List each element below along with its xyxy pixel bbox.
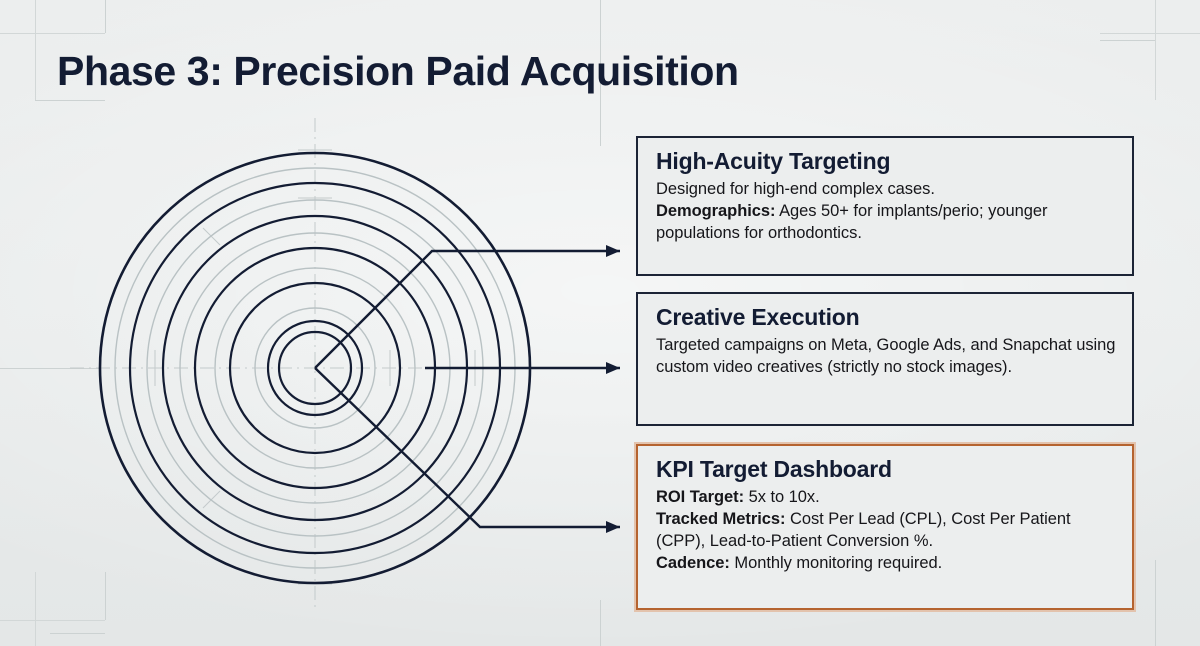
card-line-label: Tracked Metrics: <box>656 510 785 528</box>
crop-bracket-top-left-horizontal <box>35 100 105 101</box>
crop-mark-top-right-horizontal <box>1100 33 1200 34</box>
crop-mark-top-left-vertical <box>35 0 36 100</box>
arrowhead-card-3 <box>606 521 620 533</box>
crop-mark-bottom-left-vertical <box>35 572 36 646</box>
card-title: High-Acuity Targeting <box>656 149 1116 175</box>
card-line-text: Monthly monitoring required. <box>730 554 942 572</box>
slide-canvas: Phase 3: Precision Paid Acquisition <box>0 0 1200 646</box>
arrowhead-card-2 <box>606 362 620 374</box>
card-title: KPI Target Dashboard <box>656 457 1116 483</box>
card-line-label: ROI Target: <box>656 488 744 506</box>
arrowhead-card-1 <box>606 245 620 257</box>
card-body: ROI Target: 5x to 10x. Tracked Metrics: … <box>656 487 1116 575</box>
card-body: Designed for high-end complex cases. Dem… <box>656 179 1116 245</box>
card-line: Designed for high-end complex cases. <box>656 179 1116 201</box>
card-high-acuity-targeting[interactable]: High-Acuity Targeting Designed for high-… <box>636 136 1134 276</box>
card-line-text: Designed for high-end complex cases. <box>656 180 935 198</box>
page-title: Phase 3: Precision Paid Acquisition <box>57 48 739 95</box>
crop-mark-top-right-vertical <box>1155 0 1156 100</box>
leader-line-to-card-1 <box>315 251 620 368</box>
card-title: Creative Execution <box>656 305 1116 331</box>
crop-bracket-top-left-vertical <box>105 0 106 33</box>
crop-bracket-top-right-horizontal <box>1100 40 1155 41</box>
card-body: Targeted campaigns on Meta, Google Ads, … <box>656 335 1116 379</box>
construction-guides <box>70 118 620 610</box>
card-line: ROI Target: 5x to 10x. <box>656 487 1116 509</box>
crop-mark-top-left-horizontal <box>0 33 105 34</box>
crop-mark-right-vertical <box>1155 560 1156 646</box>
leader-arrowheads <box>606 245 620 533</box>
target-rings-diagram <box>60 110 620 630</box>
card-line: Demographics: Ages 50+ for implants/peri… <box>656 201 1116 245</box>
card-line: Targeted campaigns on Meta, Google Ads, … <box>656 335 1116 379</box>
card-kpi-target-dashboard[interactable]: KPI Target Dashboard ROI Target: 5x to 1… <box>636 444 1134 610</box>
crop-bracket-bottom-left-horizontal <box>50 633 105 634</box>
card-creative-execution[interactable]: Creative Execution Targeted campaigns on… <box>636 292 1134 426</box>
card-line: Tracked Metrics: Cost Per Lead (CPL), Co… <box>656 509 1116 553</box>
card-line-text: Targeted campaigns on Meta, Google Ads, … <box>656 336 1115 376</box>
leader-lines <box>315 251 620 527</box>
card-line-label: Cadence: <box>656 554 730 572</box>
card-line-label: Demographics: <box>656 202 775 220</box>
card-line: Cadence: Monthly monitoring required. <box>656 553 1116 575</box>
card-line-text: 5x to 10x. <box>744 488 820 506</box>
leader-line-to-card-3 <box>315 368 620 527</box>
